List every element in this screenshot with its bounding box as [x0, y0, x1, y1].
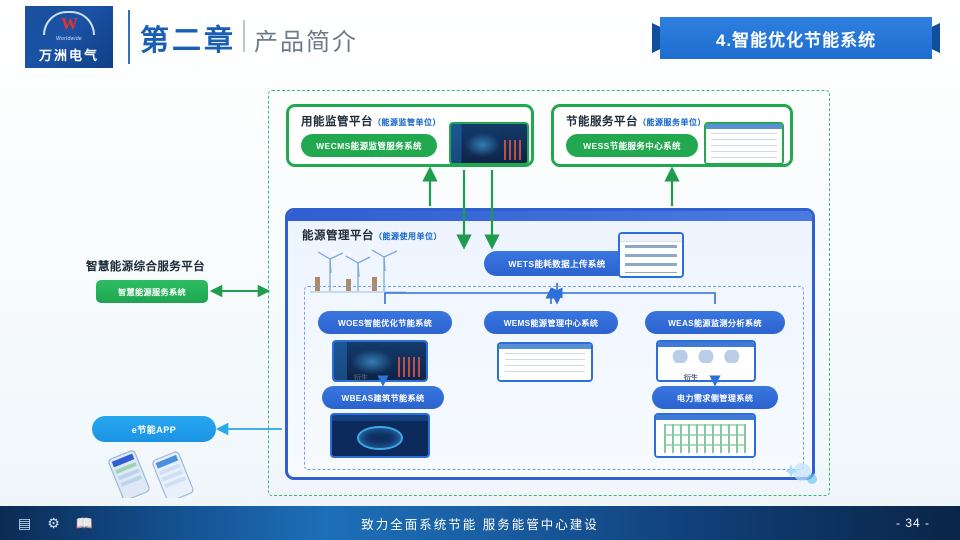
global-connector-arrows	[0, 78, 960, 506]
header-divider	[128, 10, 130, 64]
logo-mark-icon: W	[43, 11, 95, 35]
footer-slogan: 致力全面系统节能 服务能管中心建设	[0, 514, 960, 533]
banner-right-wing	[931, 23, 940, 53]
slide-header: W Worldwide 万洲电气 第二章 产品简介 4.智能优化节能系统	[0, 0, 960, 78]
logo-company-name: 万洲电气	[39, 45, 99, 64]
slide: W Worldwide 万洲电气 第二章 产品简介 4.智能优化节能系统 用能监…	[0, 0, 960, 540]
chapter-title: 第二章	[140, 17, 236, 59]
page-number: - 34 -	[896, 516, 930, 530]
company-logo: W Worldwide 万洲电气	[25, 6, 113, 68]
logo-letter: W	[43, 14, 95, 34]
slide-footer: ▤ ⚙ 📖 致力全面系统节能 服务能管中心建设 - 34 -	[0, 506, 960, 540]
logo-subtext: Worldwide	[56, 36, 82, 42]
topic-banner: 4.智能优化节能系统	[652, 17, 940, 59]
sparkle-decoration-icon	[786, 458, 820, 488]
topic-banner-label: 4.智能优化节能系统	[660, 17, 932, 59]
chapter-separator	[243, 20, 245, 52]
chapter-subtitle: 产品简介	[254, 22, 358, 57]
diagram-canvas: 用能监管平台（能源监管单位） WECMS能源监管服务系统 节能服务平台（能源服务…	[0, 78, 960, 506]
